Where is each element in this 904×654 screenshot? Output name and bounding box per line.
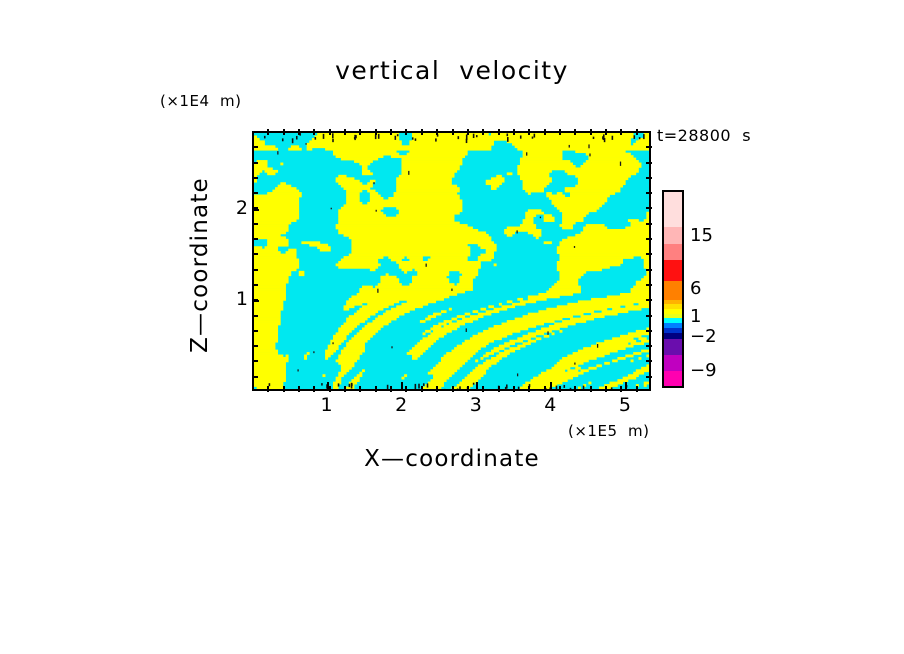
y-axis-label-text: Z—coordinate [187, 150, 213, 380]
y-minor-tick [646, 162, 652, 164]
x-minor-tick [436, 129, 438, 135]
colorbar-tick-label: −2 [690, 326, 717, 347]
x-minor-tick [359, 386, 361, 392]
y-minor-tick [252, 315, 258, 317]
x-minor-tick [636, 129, 638, 135]
colorbar-tick-label: 6 [690, 278, 701, 299]
colorbar[interactable] [662, 190, 684, 388]
x-minor-tick [375, 129, 377, 135]
figure-canvas: vertical velocity (×1E4 m) t=28800 s (×1… [0, 0, 904, 654]
x-minor-tick [467, 129, 469, 135]
y-tick-label: 2 [222, 197, 248, 219]
x-minor-tick [267, 129, 269, 135]
y-minor-tick [646, 177, 652, 179]
x-minor-tick [559, 129, 561, 135]
x-minor-tick [359, 129, 361, 135]
x-minor-tick [528, 386, 530, 392]
colorbar-band [664, 227, 682, 244]
y-minor-tick [646, 360, 652, 362]
y-minor-tick [646, 238, 652, 240]
y-minor-tick [252, 330, 258, 332]
x-tick-mark [401, 382, 403, 389]
x-minor-tick [590, 129, 592, 135]
y-minor-tick [252, 223, 258, 225]
y-minor-tick [252, 284, 258, 286]
colorbar-tick-label: 15 [690, 225, 713, 246]
x-minor-tick [498, 129, 500, 135]
x-tick-label: 3 [461, 394, 491, 416]
x-minor-tick [467, 386, 469, 392]
x-tick-label: 2 [386, 394, 416, 416]
colorbar-band [664, 244, 682, 260]
x-minor-tick [513, 386, 515, 392]
y-minor-tick [646, 192, 652, 194]
colorbar-band [664, 192, 682, 227]
y-minor-tick [252, 146, 258, 148]
colorbar-band [664, 371, 682, 386]
y-axis-label: Z—coordinate [187, 0, 217, 150]
x-minor-tick [498, 386, 500, 392]
x-minor-tick [452, 386, 454, 392]
x-minor-tick [313, 129, 315, 135]
y-minor-tick [252, 269, 258, 271]
page-title: vertical velocity [0, 56, 904, 85]
x-minor-tick [313, 386, 315, 392]
y-minor-tick [646, 315, 652, 317]
x-minor-tick [482, 129, 484, 135]
x-minor-tick [590, 386, 592, 392]
x-minor-tick [513, 129, 515, 135]
colorbar-band [664, 260, 682, 281]
y-minor-tick [252, 162, 258, 164]
x-tick-label: 4 [535, 394, 565, 416]
colorbar-tick-label: −9 [690, 360, 717, 381]
x-minor-tick [544, 386, 546, 392]
y-minor-tick [646, 223, 652, 225]
x-minor-tick [636, 386, 638, 392]
x-minor-tick [344, 386, 346, 392]
x-axis-unit-label: (×1E5 m) [568, 422, 650, 440]
x-minor-tick [421, 129, 423, 135]
y-minor-tick [252, 207, 258, 209]
y-minor-tick [252, 253, 258, 255]
y-minor-tick [646, 330, 652, 332]
vertical-velocity-field [254, 133, 649, 389]
x-minor-tick [283, 386, 285, 392]
x-tick-mark [476, 382, 478, 389]
y-minor-tick [252, 376, 258, 378]
x-minor-tick [574, 129, 576, 135]
x-tick-mark [625, 382, 627, 389]
y-minor-tick [646, 284, 652, 286]
x-minor-tick [436, 386, 438, 392]
y-minor-tick [252, 238, 258, 240]
x-minor-tick [620, 129, 622, 135]
x-minor-tick [405, 386, 407, 392]
x-minor-tick [482, 386, 484, 392]
y-minor-tick [252, 192, 258, 194]
y-minor-tick [252, 177, 258, 179]
x-minor-tick [620, 386, 622, 392]
colorbar-band [664, 355, 682, 370]
x-minor-tick [390, 129, 392, 135]
y-minor-tick [252, 360, 258, 362]
y-minor-tick [646, 207, 652, 209]
y-minor-tick [646, 269, 652, 271]
x-minor-tick [390, 386, 392, 392]
x-minor-tick [452, 129, 454, 135]
y-tick-label: 1 [222, 288, 248, 310]
contour-plot-area[interactable] [252, 131, 651, 391]
y-minor-tick [252, 345, 258, 347]
y-minor-tick [646, 376, 652, 378]
x-tick-label: 5 [610, 394, 640, 416]
x-minor-tick [421, 386, 423, 392]
x-minor-tick [344, 129, 346, 135]
x-minor-tick [329, 386, 331, 392]
y-minor-tick [646, 345, 652, 347]
x-tick-mark [550, 382, 552, 389]
x-minor-tick [329, 129, 331, 135]
x-tick-label: 1 [312, 394, 342, 416]
x-axis-label: X—coordinate [0, 446, 904, 472]
x-minor-tick [283, 129, 285, 135]
x-minor-tick [405, 129, 407, 135]
x-minor-tick [528, 129, 530, 135]
x-minor-tick [574, 386, 576, 392]
x-minor-tick [298, 386, 300, 392]
x-minor-tick [544, 129, 546, 135]
x-minor-tick [605, 386, 607, 392]
colorbar-tick-label: 1 [690, 306, 701, 327]
colorbar-band [664, 281, 682, 299]
y-minor-tick [646, 299, 652, 301]
timestamp-annotation: t=28800 s [657, 126, 751, 145]
x-minor-tick [605, 129, 607, 135]
colorbar-band [664, 339, 682, 355]
x-minor-tick [375, 386, 377, 392]
x-minor-tick [267, 386, 269, 392]
x-minor-tick [559, 386, 561, 392]
y-minor-tick [252, 299, 258, 301]
x-minor-tick [298, 129, 300, 135]
y-minor-tick [646, 253, 652, 255]
y-minor-tick [646, 146, 652, 148]
